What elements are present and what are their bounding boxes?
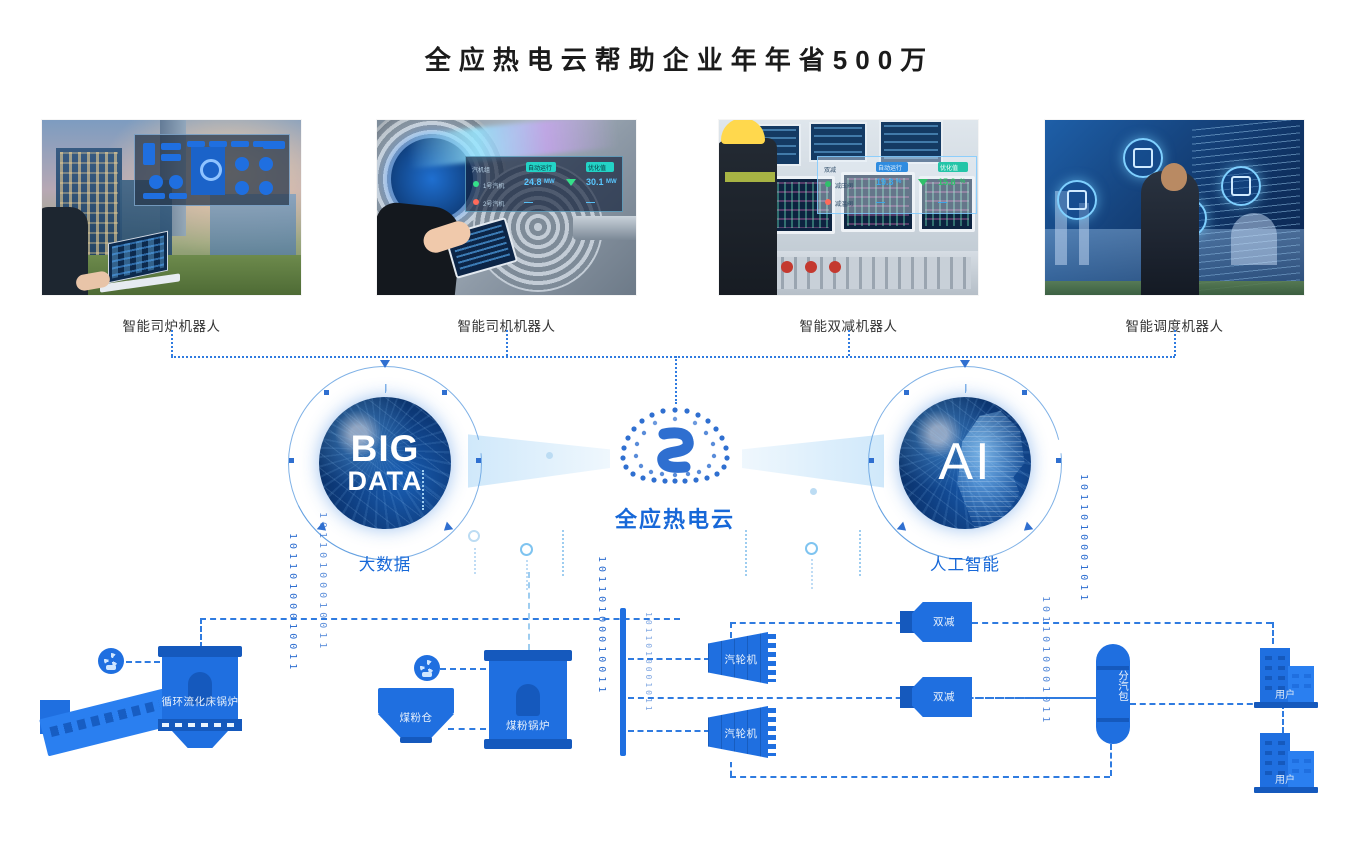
photo-laptop — [100, 237, 174, 287]
connector-bus-top — [171, 356, 1175, 358]
orb-node-right — [1056, 458, 1061, 463]
overlay-group-label: 汽机组 — [472, 165, 490, 174]
coal-powder-silo: 煤粉仓 — [378, 688, 454, 744]
steam-turbine-2: 汽轮机 — [708, 706, 780, 758]
steam-distributor: 分汽包 — [1096, 644, 1130, 744]
wire-dred-1-to-user-1 — [972, 622, 1272, 624]
overlay-down-arrow-icon — [566, 179, 576, 186]
deco-dotted-7 — [422, 470, 424, 510]
power-plant-laptop-photo — [42, 120, 301, 295]
trend-monitor-icon — [1221, 166, 1261, 206]
pulverized-coal-boiler: 煤粉锅炉 — [484, 650, 572, 750]
wire-fan-2-to-pcb — [440, 668, 486, 670]
turbine-metric-overlay: 汽机组 自动运行 优化值 1号汽机 24.8 MW 30.1 MW 2号汽机 —… — [465, 156, 623, 212]
overlay-row-1-unit: MW — [544, 179, 555, 185]
deco-ring-2 — [520, 543, 533, 556]
ai-orb: AI — [880, 378, 1050, 548]
dual-reduction-1-label: 双减 — [922, 614, 966, 629]
big-data-line-2: DATA — [348, 468, 423, 496]
ai-text: AI — [938, 436, 991, 489]
wire-header-to-turbine-1 — [628, 658, 710, 660]
deco-dotted-6 — [859, 530, 861, 576]
deco-dot-2 — [810, 488, 817, 495]
deco-dotted-5 — [745, 530, 747, 576]
hmi-overlay-panel — [134, 134, 290, 206]
wire-turbine-2-to-distributor — [730, 776, 1110, 778]
wire-fan-1-to-cfb — [126, 661, 160, 663]
steam-header — [620, 608, 626, 756]
user-building-2: 用户 — [1252, 733, 1318, 793]
dual-reduction-2-label: 双减 — [922, 689, 966, 704]
overlay-row-1-opt-value: 15.8 — [938, 177, 956, 187]
overlay-badge-auto: 自动运行 — [528, 163, 552, 172]
connector-card-2 — [506, 330, 508, 356]
orb-node-right — [476, 458, 481, 463]
overlay-row-1-unit: % — [896, 179, 901, 185]
dual-reduction-1: 双减 — [900, 602, 972, 642]
pulverized-coal-boiler-label: 煤粉锅炉 — [484, 718, 572, 733]
dual-reduction-metric-overlay: 双减 自动运行 优化值 减压阀 19.3 % 15.8 % 减温阀 — — — [817, 156, 977, 214]
fan-icon-1 — [98, 648, 124, 674]
wire-bus-mid — [200, 618, 680, 620]
binary-column-right: 1011010001011 — [1076, 474, 1090, 604]
overlay-row-2-name: 减温阀 — [835, 199, 853, 208]
photo-emergency-button-1 — [781, 261, 793, 273]
overlay-row-2-value: — — [524, 197, 533, 207]
overlay-row-2-opt-value: — — [938, 197, 947, 207]
photo-cooling-tower — [1231, 213, 1277, 265]
quanying-cloud-logo — [607, 404, 743, 498]
ai-label: 人工智能 — [880, 551, 1050, 575]
diagram-canvas: 全应热电云帮助企业年年省500万 — [0, 0, 1359, 842]
overlay-badge-opt: 优化值 — [940, 163, 958, 172]
steam-turbine-tablet-photo: 汽机组 自动运行 优化值 1号汽机 24.8 MW 30.1 MW 2号汽机 —… — [377, 120, 636, 295]
cloud-dots-svg — [607, 404, 743, 498]
user-building-2-label: 用户 — [1252, 771, 1318, 786]
dual-reduction-2: 双减 — [900, 677, 972, 717]
card-intelligent-dispatch-robot[interactable]: 智能调度机器人 — [1045, 120, 1304, 335]
photo-emergency-button-2 — [805, 261, 817, 273]
overlay-row-2-opt-value: — — [586, 197, 595, 207]
steam-distributor-label: 分汽包 — [1096, 670, 1130, 702]
coal-powder-silo-label: 煤粉仓 — [378, 710, 454, 725]
connector-bus-to-cloud — [675, 356, 677, 404]
overlay-badge-auto: 自动运行 — [878, 163, 902, 172]
binary-column-left: 10110100010011 — [285, 533, 299, 673]
wire-turbine-1-to-dred-1 — [730, 622, 902, 624]
photo-safety-vest — [725, 172, 775, 182]
binary-digits: 10110100010011 — [594, 556, 608, 696]
photo-operator — [719, 138, 777, 295]
cfb-boiler-label: 循环流化床锅炉 — [160, 694, 240, 709]
photo-hardhat — [721, 120, 765, 144]
connector-card-1 — [171, 330, 173, 356]
user-building-1-label: 用户 — [1252, 686, 1318, 701]
executive-digital-wall-photo — [1045, 120, 1304, 295]
orb-marker-top — [380, 360, 390, 368]
wire-user-1-down — [1272, 622, 1274, 644]
photo-control-buttons — [745, 257, 971, 289]
binary-digits: 1011010001011 — [1076, 474, 1090, 604]
deco-ring-3 — [805, 542, 818, 555]
overlay-row-1-opt-value: 30.1 — [586, 177, 604, 187]
orb-text: AI — [880, 378, 1050, 548]
overlay-group-label: 双减 — [824, 165, 836, 174]
photo-emergency-button-3 — [829, 261, 841, 273]
control-room-operator-photo: 双减 自动运行 优化值 减压阀 19.3 % 15.8 % 减温阀 — — — [719, 120, 978, 295]
photo-turbine-shaft — [573, 216, 636, 240]
deco-dotted-1 — [474, 548, 476, 574]
wire-pcb-up — [528, 572, 530, 650]
deco-dotted-3 — [562, 530, 564, 576]
wire-distributor-down — [1110, 744, 1112, 776]
overlay-row-1-name: 1号汽机 — [483, 181, 504, 190]
binary-column-left-2: 10110100010011 — [315, 512, 329, 652]
card-intelligent-stoker-robot[interactable]: 智能司炉机器人 — [42, 120, 301, 335]
deco-dotted-4 — [811, 559, 813, 589]
binary-digits: 10110100010011 — [315, 512, 329, 652]
big-data-line-1: BIG — [351, 430, 420, 468]
overlay-row-1-opt-unit: % — [960, 179, 965, 185]
steam-turbine-1: 汽轮机 — [708, 632, 780, 684]
wire-cfb-up — [200, 618, 202, 648]
chart-search-icon — [1057, 180, 1097, 220]
wire-turbine-2-down — [730, 762, 732, 776]
steam-turbine-2-label: 汽轮机 — [718, 726, 764, 741]
binary-column-mid: 10110100010011 — [594, 556, 608, 696]
overlay-row-1-value: 19.3 — [876, 177, 894, 187]
overlay-badge-opt: 优化值 — [588, 163, 606, 172]
user-building-1: 用户 — [1252, 648, 1318, 708]
connector-card-3 — [848, 330, 850, 356]
card-intelligent-turbine-operator-robot[interactable]: 汽机组 自动运行 优化值 1号汽机 24.8 MW 30.1 MW 2号汽机 —… — [377, 120, 636, 335]
binary-digits: 1011010001011 — [1038, 596, 1052, 726]
overlay-row-2-name: 2号汽机 — [483, 199, 504, 208]
data-beam-left — [468, 432, 610, 490]
photo-executive-head — [1161, 163, 1187, 191]
deco-ring-1 — [468, 530, 480, 542]
overlay-down-arrow-icon — [918, 179, 928, 186]
cloud-s-glyph — [663, 433, 688, 467]
card-intelligent-dual-reduction-robot[interactable]: 双减 自动运行 优化值 减压阀 19.3 % 15.8 % 减温阀 — — 智能… — [719, 120, 978, 335]
orb-node-left — [869, 458, 874, 463]
binary-column-far-right: 1011010001011 — [1038, 596, 1052, 726]
orb-node-left — [289, 458, 294, 463]
overlay-row-1-opt-unit: MW — [606, 179, 617, 185]
overlay-row-1-value: 24.8 — [524, 177, 542, 187]
coal-conveyor — [39, 689, 172, 757]
wire-header-to-turbine-2 — [628, 730, 710, 732]
overlay-row-2-value: — — [876, 197, 885, 207]
overlay-row-1-name: 减压阀 — [835, 181, 853, 190]
fan-icon-2 — [414, 655, 440, 681]
cfb-boiler: 循环流化床锅炉 — [158, 646, 242, 746]
deco-dot-1 — [546, 452, 553, 459]
cloud-label: 全应热电云 — [555, 502, 795, 534]
data-beam-right — [742, 432, 884, 490]
binary-digits: 10110100010011 — [285, 533, 299, 673]
orb-marker-top — [960, 360, 970, 368]
connector-card-4 — [1174, 330, 1176, 356]
page-title: 全应热电云帮助企业年年省500万 — [0, 40, 1359, 77]
steam-turbine-1-label: 汽轮机 — [718, 652, 764, 667]
